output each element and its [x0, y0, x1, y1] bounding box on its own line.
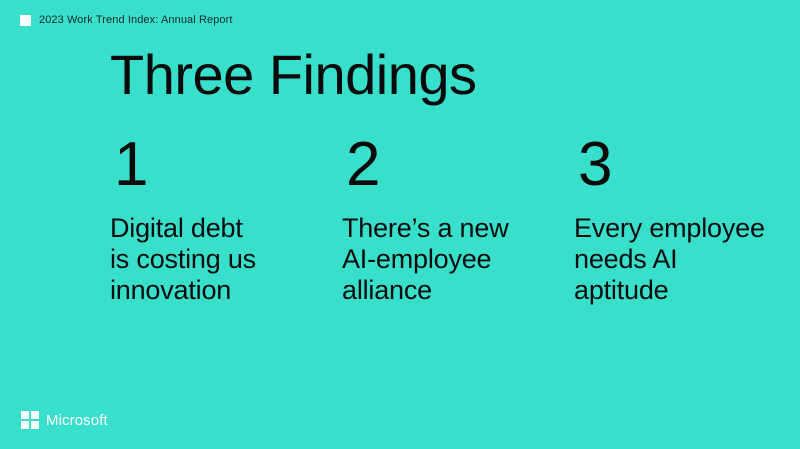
finding-text: There’s a new AI-employee alliance	[342, 213, 552, 306]
report-label: 2023 Work Trend Index: Annual Report	[39, 14, 233, 27]
logo-square-top-right	[31, 411, 39, 419]
microsoft-logo: Microsoft	[21, 411, 108, 429]
white-square-icon	[20, 15, 31, 26]
finding-item-3: 3 Every employee needs AI aptitude	[570, 131, 800, 306]
logo-square-top-left	[21, 411, 29, 419]
microsoft-wordmark: Microsoft	[46, 412, 108, 429]
finding-text: Every employee needs AI aptitude	[574, 213, 782, 306]
page-title: Three Findings	[110, 44, 477, 106]
slide-header: 2023 Work Trend Index: Annual Report	[20, 12, 233, 28]
finding-item-1: 1 Digital debt is costing us innovation	[110, 131, 340, 306]
slide: 2023 Work Trend Index: Annual Report Thr…	[0, 0, 800, 449]
finding-number: 2	[346, 131, 552, 199]
logo-square-bottom-right	[31, 421, 39, 429]
findings-list: 1 Digital debt is costing us innovation …	[110, 131, 800, 306]
finding-number: 3	[578, 131, 782, 199]
finding-item-2: 2 There’s a new AI-employee alliance	[340, 131, 570, 306]
logo-square-bottom-left	[21, 421, 29, 429]
microsoft-squares-icon	[21, 411, 39, 429]
finding-text: Digital debt is costing us innovation	[110, 213, 322, 306]
finding-number: 1	[114, 131, 322, 199]
